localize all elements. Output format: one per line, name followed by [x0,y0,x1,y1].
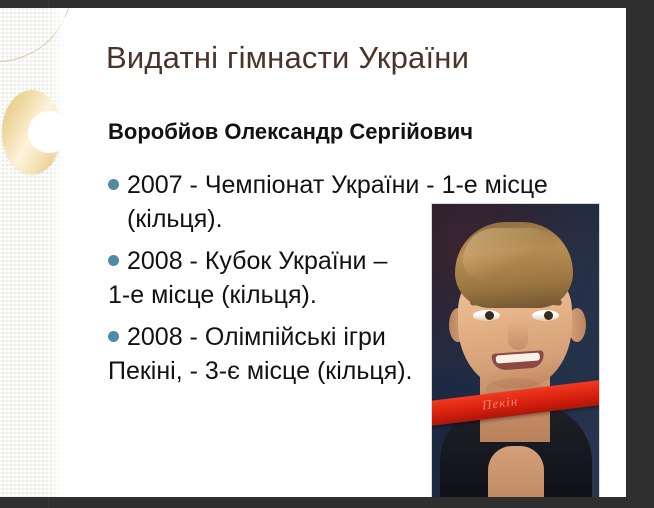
bullet-dot-icon [108,179,119,190]
athlete-photo: Пекін [432,204,599,497]
athlete-name-heading: Воробйов Олександр Сергійович [108,118,473,146]
list-item-text: 2008 - Олімпійські ігри [127,320,386,354]
medal-ribbon-text: Пекін [481,393,519,413]
presentation-viewer: Видатні гімнасти України Воробйов Олекса… [0,0,654,508]
slide-title: Видатні гімнасти України [106,39,469,77]
slide: Видатні гімнасти України Воробйов Олекса… [0,8,626,497]
photo-pupil-right [544,311,553,320]
list-item-text: 2008 - Кубок України – [127,244,387,278]
bullet-dot-icon [108,331,119,342]
gold-ring-icon [2,90,62,174]
photo-eye-right [532,310,559,321]
decorative-arc [0,8,72,62]
photo-nose [508,322,528,350]
photo-mouth [491,350,544,371]
photo-teeth [496,352,540,363]
decorative-side-panel [0,8,65,497]
photo-chest [488,446,544,497]
list-item-text: 2007 - Чемпіонат України - 1-е місце [127,168,548,202]
photo-pupil-left [485,311,494,320]
bullet-dot-icon [108,255,119,266]
photo-hair [455,222,573,308]
list-item: 2007 - Чемпіонат України - 1-е місце [100,168,620,202]
photo-eye-left [473,310,500,321]
